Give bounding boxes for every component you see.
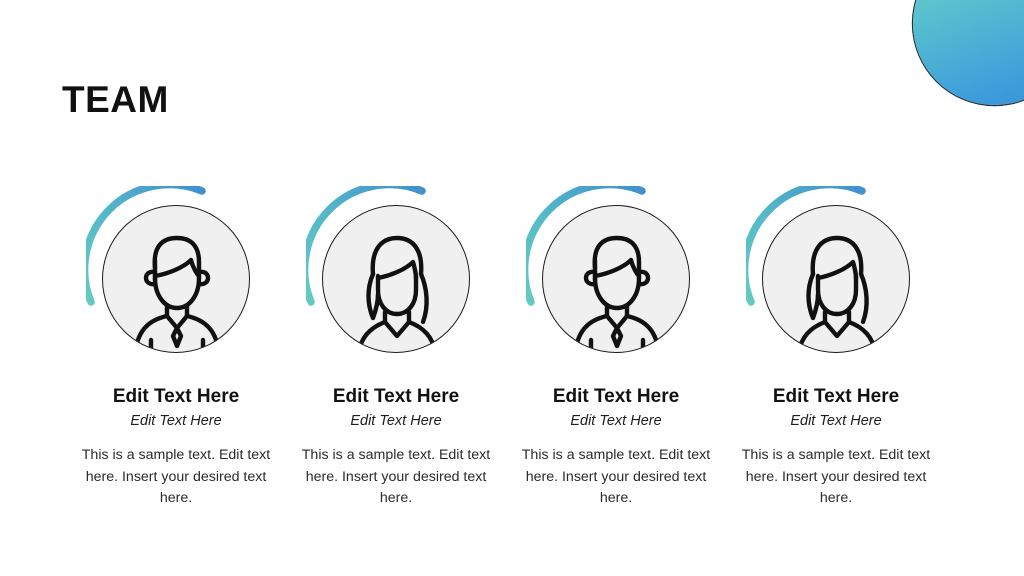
member-name: Edit Text Here [726,386,946,409]
avatar [306,186,486,366]
member-name: Edit Text Here [66,386,286,409]
member-description: This is a sample text. Edit text here. I… [726,445,946,510]
member-role: Edit Text Here [66,412,286,430]
member-role: Edit Text Here [506,412,726,430]
female-avatar-icon [322,205,470,353]
member-description: This is a sample text. Edit text here. I… [506,445,726,510]
member-name: Edit Text Here [286,386,506,409]
member-description: This is a sample text. Edit text here. I… [66,445,286,510]
team-member-card[interactable]: Edit Text Here Edit Text Here This is a … [506,186,726,510]
female-avatar-icon [762,205,910,353]
member-role: Edit Text Here [286,412,506,430]
team-member-card[interactable]: Edit Text Here Edit Text Here This is a … [66,186,286,510]
member-name: Edit Text Here [506,386,726,409]
member-role: Edit Text Here [726,412,946,430]
team-members-row: Edit Text Here Edit Text Here This is a … [0,0,1024,576]
team-member-card[interactable]: Edit Text Here Edit Text Here This is a … [286,186,506,510]
member-description: This is a sample text. Edit text here. I… [286,445,506,510]
male-avatar-icon [542,205,690,353]
avatar [526,186,706,366]
avatar [746,186,926,366]
avatar [86,186,266,366]
male-avatar-icon [102,205,250,353]
slide-canvas: TEAM [0,0,1024,576]
team-member-card[interactable]: Edit Text Here Edit Text Here This is a … [726,186,946,510]
